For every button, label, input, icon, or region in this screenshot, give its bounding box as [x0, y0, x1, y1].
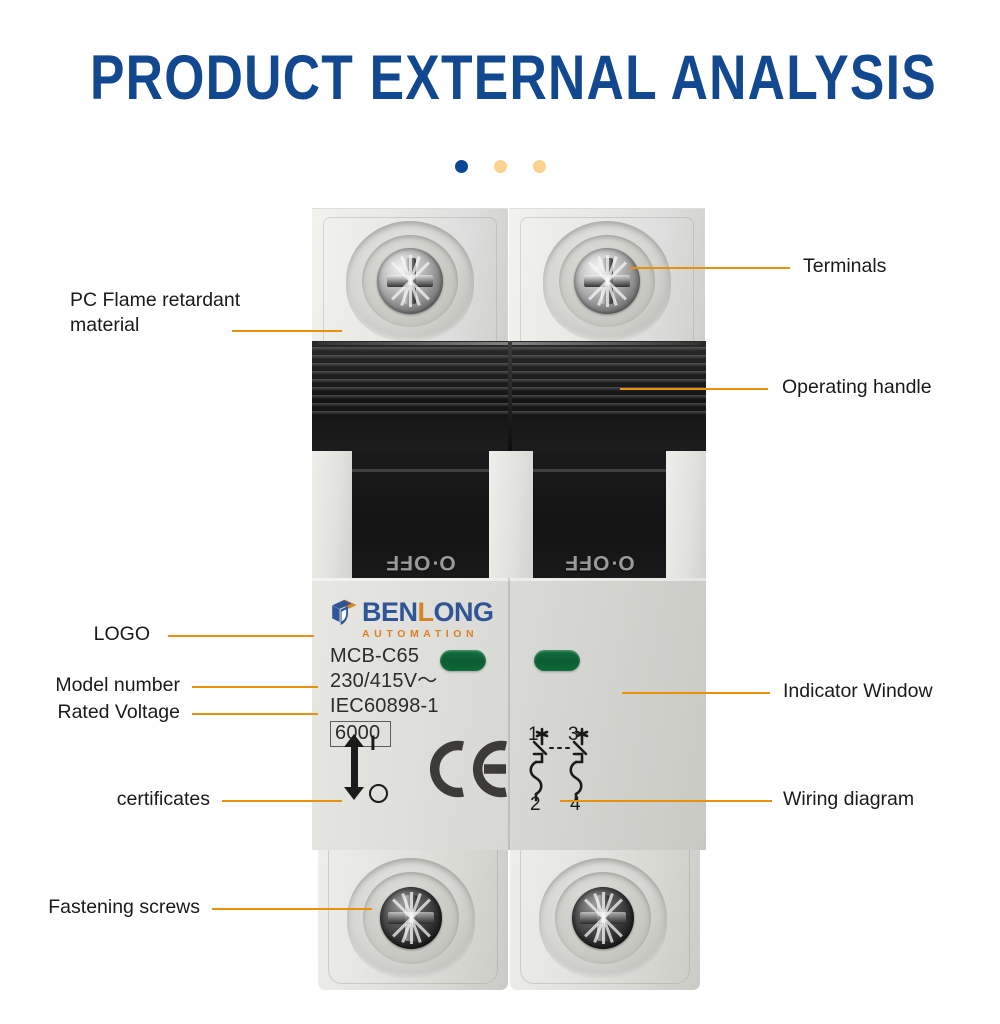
logo-word-part2: L [418, 597, 434, 627]
face-pole-seam [508, 578, 510, 850]
terminal-well-inner-2 [559, 235, 655, 327]
fastening-screw-1[interactable] [380, 887, 442, 949]
arrow-shaft [351, 740, 358, 794]
leader-certificates [222, 800, 342, 802]
dot-3[interactable] [533, 160, 546, 173]
phillips-slot-icon [572, 887, 634, 949]
leader-wiring-diagram [560, 800, 772, 802]
callout-operating-handle: Operating handle [782, 375, 932, 400]
fastening-well-inner-2 [555, 872, 651, 964]
terminal-screw-2[interactable] [574, 248, 640, 314]
logo-wordmark: BENLONG [362, 599, 494, 626]
leader-logo [168, 635, 314, 637]
standard-value: IEC60898-1 [330, 694, 439, 719]
rated-voltage-value: 230/415V～ [330, 669, 439, 694]
terminal-well-2 [543, 221, 671, 341]
off-symbol-icon [369, 784, 388, 803]
handle-center-seam [508, 341, 512, 451]
logo-word-part1: BEN [362, 597, 418, 627]
handle-recess-panel: O·OFF O·OFF [312, 451, 706, 578]
leader-model-number [192, 686, 318, 688]
on-off-direction-marking: I [338, 734, 384, 800]
fastening-well-2 [539, 858, 667, 978]
logo-subtitle: AUTOMATION [362, 628, 478, 640]
callout-logo: LOGO [40, 622, 150, 647]
leader-indicator-window [622, 692, 770, 694]
cube-icon [330, 598, 359, 627]
callout-line-1: PC Flame retardant [70, 288, 240, 313]
callout-indicator-window: Indicator Window [783, 679, 933, 704]
phillips-slot-icon [380, 887, 442, 949]
terminal-block-top [312, 208, 706, 341]
model-number-value: MCB-C65 [330, 644, 439, 669]
indicator-window-pole-2 [534, 650, 580, 671]
brand-logo: BENLONG AUTOMATION [330, 598, 494, 640]
callout-pc-flame-retardant-material: PC Flame retardant material [70, 288, 240, 338]
indicator-window-pole-1 [440, 650, 486, 671]
leader-rated-voltage [192, 713, 318, 715]
carousel-dots [0, 160, 1000, 173]
phillips-slot-icon [574, 248, 640, 314]
housing-tab-left [312, 451, 352, 578]
rating-label-text: MCB-C65 230/415V～ IEC60898-1 6000 [330, 644, 439, 747]
terminal-well-inner-1 [362, 235, 458, 327]
callout-fastening-screws: Fastening screws [0, 895, 200, 920]
dot-active[interactable] [455, 160, 468, 173]
housing-tab-right [666, 451, 706, 578]
callout-certificates: certificates [0, 787, 210, 812]
ce-mark-icon [422, 738, 514, 800]
callout-rated-voltage: Rated Voltage [0, 700, 180, 725]
leader-fastening-screws [212, 908, 372, 910]
product-front-face: BENLONG AUTOMATION MCB-C65 230/415V～ IEC… [312, 578, 706, 850]
terminal-well-1 [346, 221, 474, 341]
leader-terminals [630, 267, 790, 269]
callout-line-2: material [70, 313, 240, 338]
logo-wordmark-row: BENLONG [330, 598, 494, 627]
housing-tab-center [489, 451, 533, 578]
off-marking-pole-1: O·OFF [352, 550, 489, 574]
product-analysis-diagram: PRODUCT EXTERNAL ANALYSIS [0, 0, 1000, 1024]
terminal-screw-1[interactable] [377, 248, 443, 314]
leader-pc-flame-retardant-material [232, 330, 342, 332]
mcb-product-photo: O·OFF O·OFF [312, 208, 706, 990]
logo-word-part3: ONG [434, 597, 494, 627]
terminal-block-bottom [318, 850, 700, 990]
fastening-screw-2[interactable] [572, 887, 634, 949]
callout-model-number: Model number [0, 673, 180, 698]
fastening-well-inner-1 [363, 872, 459, 964]
on-symbol: I [370, 734, 376, 754]
fastening-well-1 [347, 858, 475, 978]
page-title: PRODUCT EXTERNAL ANALYSIS [90, 46, 910, 110]
arrow-down-icon [344, 787, 364, 800]
operating-handle[interactable] [312, 341, 706, 451]
dot-2[interactable] [494, 160, 507, 173]
phillips-slot-icon [377, 248, 443, 314]
callout-terminals: Terminals [803, 254, 886, 279]
leader-operating-handle [620, 388, 768, 390]
callout-wiring-diagram: Wiring diagram [783, 787, 914, 812]
off-marking-pole-2: O·OFF [533, 550, 666, 574]
